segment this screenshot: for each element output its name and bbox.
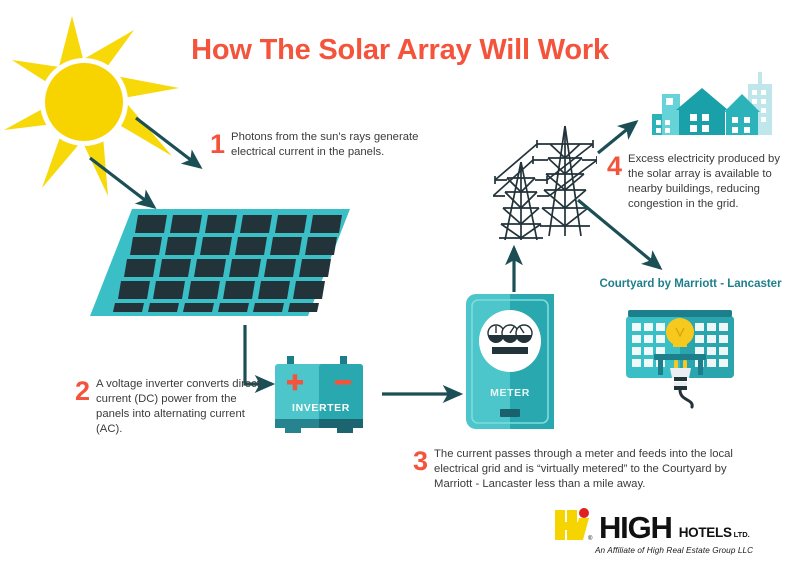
arrow-sun-to-panel-1 xyxy=(136,118,200,167)
step-3-text: The current passes through a meter and f… xyxy=(434,447,763,492)
step-4-number: 4 xyxy=(607,153,622,180)
logo-mark-icon: ® xyxy=(553,508,595,542)
svg-text:®: ® xyxy=(588,535,593,542)
logo-tagline: An Affiliate of High Real Estate Group L… xyxy=(595,546,753,555)
step-3-number: 3 xyxy=(413,448,428,475)
arrow-tower-to-buildings xyxy=(598,122,636,153)
high-hotels-logo: ® HIGH HOTELS LTD. An Affiliate of High … xyxy=(553,506,793,564)
arrow-panel-to-inverter xyxy=(245,325,272,384)
logo-name: HIGH xyxy=(599,513,672,542)
infographic-page: How The Solar Array Will Work xyxy=(0,0,800,577)
step-1-number: 1 xyxy=(210,131,225,158)
step-4-text: Excess electricity produced by the solar… xyxy=(628,152,787,213)
step-1: 1 Photons from the sun's rays generate e… xyxy=(210,130,435,160)
marriott-label: Courtyard by Marriott - Lancaster xyxy=(598,277,783,292)
logo-row: ® HIGH HOTELS LTD. xyxy=(553,508,750,542)
step-2-text: A voltage inverter converts direct curre… xyxy=(96,377,260,438)
arrow-sun-to-panel-2 xyxy=(90,158,154,207)
step-3: 3 The current passes through a meter and… xyxy=(413,447,763,492)
step-2-number: 2 xyxy=(75,378,90,405)
step-1-text: Photons from the sun's rays generate ele… xyxy=(231,130,435,160)
logo-ltd: LTD. xyxy=(734,530,750,539)
step-2: 2 A voltage inverter converts direct cur… xyxy=(75,377,260,438)
logo-suffix: HOTELS xyxy=(679,525,732,540)
step-4: 4 Excess electricity produced by the sol… xyxy=(607,152,787,213)
